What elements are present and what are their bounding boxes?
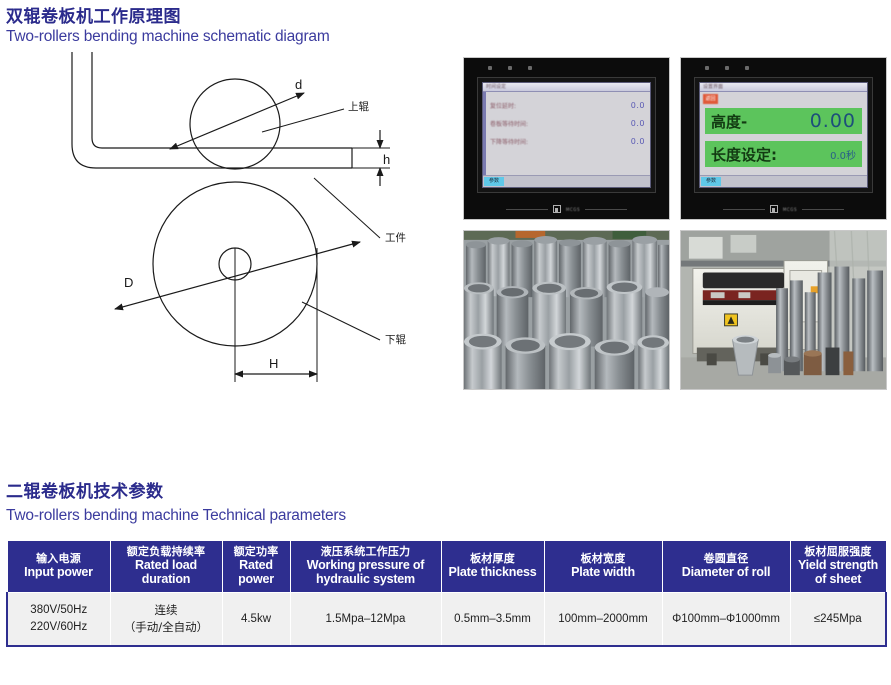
schematic-title-cn: 双辊卷板机工作原理图	[6, 6, 330, 27]
hmi-row-value: 0.0	[631, 137, 645, 146]
led-2	[508, 66, 512, 70]
col-header-yield-strength: 板材屈服强度 Yield strength of sheet	[790, 541, 886, 593]
col-header-rated-power: 额定功率 Rated power	[222, 541, 290, 593]
rolled-cylinders-photo	[463, 230, 670, 390]
product-spec-page: 双辊卷板机工作原理图 Two-rollers bending machine s…	[0, 0, 891, 685]
hmi-row-value: 0.0	[631, 119, 645, 128]
cell-line-1: 4.5kw	[225, 611, 288, 628]
cell-line-1: 0.5mm–3.5mm	[444, 611, 542, 628]
brand-rule-left	[506, 209, 548, 210]
hmi-indicator-leds	[705, 66, 749, 70]
hmi-back-button[interactable]: 返回	[703, 94, 718, 104]
hmi-titlebar: 时间设定	[483, 83, 650, 92]
hmi-length-value: 0.0秒	[830, 147, 856, 162]
col-header-en: Plate width	[547, 565, 660, 579]
col-header-en: Rated load duration	[113, 558, 220, 586]
col-header-rated-load-duration: 额定负载持续率 Rated load duration	[110, 541, 222, 593]
hmi-row-label: 复位延时:	[490, 101, 516, 110]
hmi-titlebar: 设置界面	[700, 83, 867, 92]
hmi-status-button[interactable]: 参数	[701, 177, 721, 186]
cell-line-1: Φ100mm–Φ1000mm	[665, 611, 788, 628]
brand-logo-icon	[553, 205, 561, 213]
col-header-cn: 输入电源	[10, 553, 108, 565]
col-header-en: Yield strength of sheet	[793, 558, 884, 586]
cell-line-1: 100mm–2000mm	[547, 611, 660, 628]
brand-name: MCGS	[783, 207, 797, 212]
label-d: d	[295, 77, 302, 92]
hmi-brand-strip: MCGS	[681, 204, 886, 214]
cell-yield-strength: ≤245Mpa	[790, 593, 886, 646]
col-header-plate-thickness: 板材厚度 Plate thickness	[441, 541, 544, 593]
col-header-en: Rated power	[225, 558, 288, 586]
hmi-left-accent-bar	[483, 92, 486, 175]
col-header-en: Input power	[10, 565, 108, 579]
cell-line-1: 1.5Mpa–12Mpa	[293, 611, 439, 628]
col-header-en: Diameter of roll	[665, 565, 788, 579]
hmi-statusbar: 参数	[700, 175, 867, 187]
hmi-row-label: 卷板等待时间:	[490, 119, 528, 128]
brand-name: MCGS	[566, 207, 580, 212]
label-D: D	[124, 275, 133, 290]
hmi-row-value: 0.0	[631, 101, 645, 110]
hmi-height-row[interactable]: 高度- 0.00	[705, 108, 862, 134]
hmi-row[interactable]: 复位延时: 0.0	[490, 96, 645, 114]
hmi-screen-title: 设置界面	[703, 83, 723, 90]
hmi-row-label: 下降等待时间:	[490, 137, 528, 146]
label-lower-roll: 下辊	[385, 333, 406, 346]
hmi-length-row[interactable]: 长度设定: 0.0秒	[705, 141, 862, 167]
hmi-length-label: 长度设定:	[711, 144, 777, 165]
led-3	[528, 66, 532, 70]
hmi-timer-screen-photo: 时间设定 复位延时: 0.0 卷板等待时间: 0.0 下降等待时	[463, 57, 670, 220]
led-2	[725, 66, 729, 70]
cell-plate-thickness: 0.5mm–3.5mm	[441, 593, 544, 646]
label-workpiece: 工件	[385, 232, 406, 244]
hmi-status-button[interactable]: 参数	[484, 177, 504, 186]
bending-machine-photo	[680, 230, 887, 390]
params-title-en: Two-rollers bending machine Technical pa…	[6, 506, 346, 526]
schematic-title-en: Two-rollers bending machine schematic di…	[6, 27, 330, 47]
brand-logo-icon	[770, 205, 778, 213]
machine-illustration	[681, 231, 886, 389]
col-header-cn: 卷圆直径	[665, 553, 788, 565]
col-header-diameter-of-roll: 卷圆直径 Diameter of roll	[662, 541, 790, 593]
hmi-screen-title: 时间设定	[486, 83, 506, 90]
cell-working-pressure: 1.5Mpa–12Mpa	[290, 593, 441, 646]
params-heading: 二辊卷板机技术参数 Two-rollers bending machine Te…	[6, 481, 346, 526]
hmi-indicator-leds	[488, 66, 532, 70]
schematic-diagram: d D 上辊 工件 下辊 h H	[52, 52, 452, 404]
hmi-statusbar: 参数	[483, 175, 650, 187]
col-header-working-pressure: 液压系统工作压力 Working pressure of hydraulic s…	[290, 541, 441, 593]
hmi-height-label: 高度-	[711, 111, 747, 132]
hmi-parameter-rows: 复位延时: 0.0 卷板等待时间: 0.0 下降等待时间: 0.0	[490, 96, 645, 150]
hmi-height-screen-photo: 设置界面 返回 高度- 0.00 长度设定: 0.0秒	[680, 57, 887, 220]
table-header-row: 输入电源 Input power 额定负载持续率 Rated load dura…	[7, 541, 886, 593]
cell-rated-power: 4.5kw	[222, 593, 290, 646]
cell-input-power: 380V/50Hz 220V/60Hz	[7, 593, 110, 646]
params-title-cn: 二辊卷板机技术参数	[6, 481, 346, 502]
col-header-cn: 额定负载持续率	[113, 546, 220, 558]
col-header-cn: 额定功率	[225, 546, 288, 558]
cell-diameter-of-roll: Φ100mm–Φ1000mm	[662, 593, 790, 646]
col-header-cn: 板材宽度	[547, 553, 660, 565]
cylinders-illustration	[464, 231, 669, 389]
hmi-row[interactable]: 卷板等待时间: 0.0	[490, 114, 645, 132]
schematic-heading: 双辊卷板机工作原理图 Two-rollers bending machine s…	[6, 6, 330, 47]
cell-plate-width: 100mm–2000mm	[544, 593, 662, 646]
label-H: H	[269, 356, 278, 371]
col-header-en: Working pressure of hydraulic system	[293, 558, 439, 586]
label-h: h	[383, 152, 390, 167]
cell-line-1: 380V/50Hz	[10, 602, 108, 619]
cell-line-2: （手动/全自动）	[113, 619, 220, 636]
technical-parameters-table: 输入电源 Input power 额定负载持续率 Rated load dura…	[6, 540, 887, 647]
led-3	[745, 66, 749, 70]
hmi-height-value: 0.00	[810, 110, 856, 132]
col-header-cn: 板材屈服强度	[793, 546, 884, 558]
hmi-bezel: 设置界面 返回 高度- 0.00 长度设定: 0.0秒	[694, 77, 873, 193]
hmi-screen: 设置界面 返回 高度- 0.00 长度设定: 0.0秒	[699, 82, 868, 188]
brand-rule-left	[723, 209, 765, 210]
cell-line-2: 220V/60Hz	[10, 619, 108, 636]
cell-line-1: 连续	[113, 602, 220, 619]
col-header-cn: 板材厚度	[444, 553, 542, 565]
led-1	[488, 66, 492, 70]
brand-rule-right	[802, 209, 844, 210]
hmi-green-rows: 高度- 0.00 长度设定: 0.0秒	[705, 108, 862, 174]
label-upper-roll: 上辊	[348, 100, 369, 113]
led-1	[705, 66, 709, 70]
hmi-screen: 时间设定 复位延时: 0.0 卷板等待时间: 0.0 下降等待时	[482, 82, 651, 188]
col-header-plate-width: 板材宽度 Plate width	[544, 541, 662, 593]
cell-line-1: ≤245Mpa	[793, 611, 884, 628]
hmi-bezel: 时间设定 复位延时: 0.0 卷板等待时间: 0.0 下降等待时	[477, 77, 656, 193]
cell-rated-load-duration: 连续 （手动/全自动）	[110, 593, 222, 646]
hmi-brand-strip: MCGS	[464, 204, 669, 214]
hmi-row[interactable]: 下降等待时间: 0.0	[490, 132, 645, 150]
col-header-input-power: 输入电源 Input power	[7, 541, 110, 593]
col-header-en: Plate thickness	[444, 565, 542, 579]
table-row: 380V/50Hz 220V/60Hz 连续 （手动/全自动） 4.5kw 1.…	[7, 593, 886, 646]
col-header-cn: 液压系统工作压力	[293, 546, 439, 558]
photo-grid: 时间设定 复位延时: 0.0 卷板等待时间: 0.0 下降等待时	[463, 57, 887, 390]
brand-rule-right	[585, 209, 627, 210]
